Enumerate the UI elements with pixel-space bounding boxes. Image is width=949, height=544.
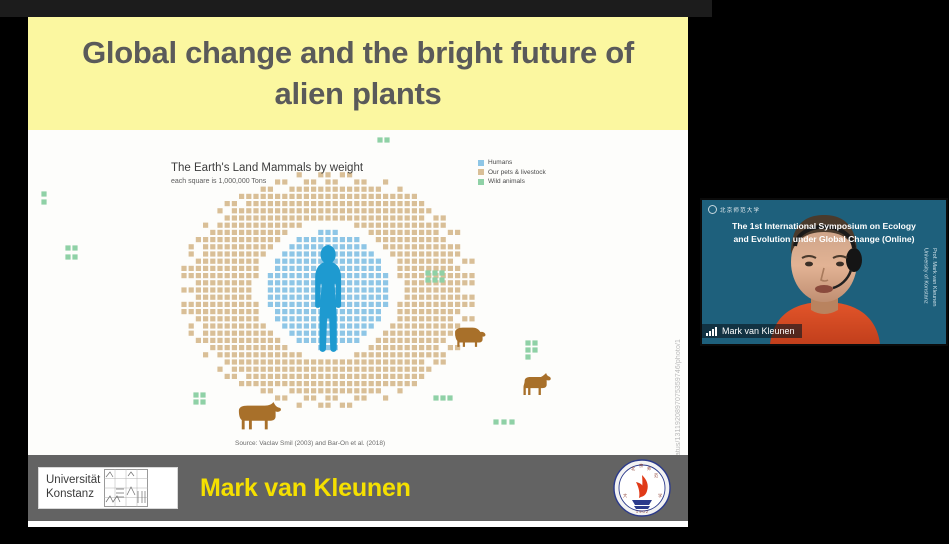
slide-footer-bar: Universität Konstanz [28,455,688,521]
twitter-credit-url: https://twitter.com/ProfMarkMaslin/statu… [675,339,682,455]
land-mammals-pictogram [28,130,688,455]
legend-swatch-livestock [478,169,484,175]
video-background-title-line2: and Evolution under Global Change (Onlin… [712,233,936,246]
infographic-subtitle: each square is 1,000,000 Tons [171,178,266,185]
participant-video-tile[interactable]: 北京师范大学 The 1st International Symposium o… [702,200,946,344]
participant-name-label: Mark van Kleunen [722,326,795,336]
legend-item-livestock: Our pets & livestock [478,169,546,176]
twitter-credit: https://twitter.com/ProfMarkMaslin/statu… [671,242,685,455]
svg-text:京: 京 [639,462,643,469]
video-speaker-credit: Prof. Mark van Kleunen University of Kon… [921,248,938,306]
konstanz-grid-mark [104,469,148,507]
slide-title: Global change and the bright future of a… [58,33,658,115]
legend-swatch-wild [478,179,484,185]
presenter-name: Mark van Kleunen [200,474,411,503]
slide-title-band: Global change and the bright future of a… [28,17,688,130]
legend-item-humans: Humans [478,159,546,166]
video-background-title-line1: The 1st International Symposium on Ecolo… [712,220,936,233]
university-name-line1: Universität [46,474,100,488]
legend-swatch-humans [478,160,484,166]
legend-label-humans: Humans [488,159,512,166]
svg-text:学: 学 [658,492,662,498]
presentation-slide[interactable]: Global change and the bright future of a… [28,17,688,527]
video-speaker-credit-line1: Prof. Mark van Kleunen [930,248,938,306]
institute-seal-logo: 北京师 范大学 1 9 0 2 [612,458,672,518]
pictogram-legend: Humans Our pets & livestock Wild animals [478,159,546,188]
footer-underline [28,521,688,527]
university-logo-text: Universität Konstanz [39,474,100,501]
participant-name-badge: Mark van Kleunen [702,324,802,338]
video-background-title: The 1st International Symposium on Ecolo… [702,220,946,247]
university-name-line2: Konstanz [46,488,100,502]
infographic-source: Source: Vaclav Smil (2003) and Bar-On et… [235,440,385,447]
legend-label-wild: Wild animals [488,178,525,185]
svg-text:范: 范 [654,472,658,479]
signal-bars-icon [706,327,718,336]
infographic-area: The Earth's Land Mammals by weight each … [28,130,688,455]
org-seal-icon [708,205,717,214]
legend-item-wild: Wild animals [478,178,546,185]
video-speaker-credit-line2: University of Konstanz [921,248,929,306]
left-gutter [0,17,28,527]
svg-text:大: 大 [623,492,627,499]
svg-text:1 9 0 2: 1 9 0 2 [636,509,649,514]
screen-share-view: Global change and the bright future of a… [0,0,949,544]
infographic-title: The Earth's Land Mammals by weight [171,162,363,174]
legend-label-livestock: Our pets & livestock [488,169,546,176]
university-konstanz-logo: Universität Konstanz [38,467,178,509]
window-top-strip [0,0,712,17]
svg-text:师: 师 [647,465,651,472]
video-org-logo: 北京师范大学 [708,205,760,214]
video-org-name: 北京师范大学 [720,206,760,214]
